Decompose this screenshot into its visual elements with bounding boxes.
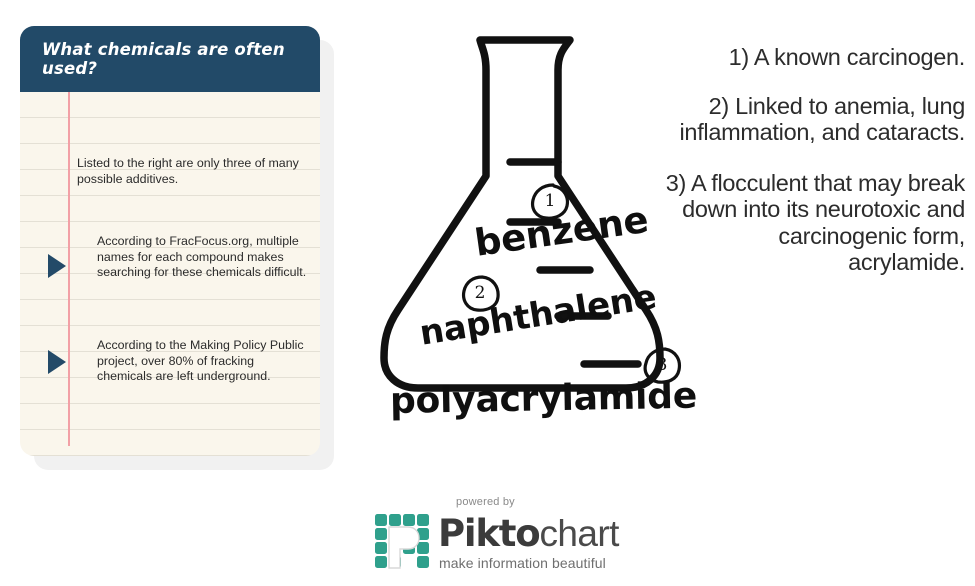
- paper-margin-line: [68, 92, 70, 446]
- piktochart-wordmark: Pikto chart: [438, 512, 619, 554]
- powered-by-label: powered by: [456, 496, 515, 508]
- effect-list-item: 2) Linked to anemia, lung inflammation, …: [660, 93, 965, 146]
- wordmark-chart: chart: [540, 513, 619, 555]
- chemical-label-polyacrylamide: polyacrylamide: [390, 376, 698, 422]
- health-effects-list: 1) A known carcinogen. 2) Linked to anem…: [660, 44, 965, 296]
- chemicals-note-card: What chemicals are often used? Listed to…: [20, 26, 320, 456]
- note-card-title: What chemicals are often used?: [42, 40, 320, 78]
- note-card-header: What chemicals are often used?: [20, 26, 320, 92]
- note-intro-text: Listed to the right are only three of ma…: [77, 156, 305, 187]
- triangle-bullet-icon: [48, 350, 66, 374]
- piktochart-tagline: make information beautiful: [439, 555, 606, 571]
- note-bullet-text: According to FracFocus.org, multiple nam…: [97, 234, 312, 281]
- effect-list-item: 1) A known carcinogen.: [660, 44, 965, 71]
- triangle-bullet-icon: [48, 254, 66, 278]
- piktochart-logo-icon: [374, 513, 432, 569]
- piktochart-attribution[interactable]: powered by Pikto chart make information …: [372, 496, 622, 576]
- effect-list-item: 3) A flocculent that may break down into…: [660, 170, 965, 276]
- callout-digit: 2: [475, 283, 486, 303]
- note-bullet-text: According to the Making Policy Public pr…: [97, 338, 312, 385]
- callout-digit: 1: [545, 191, 556, 211]
- callout-digit: 3: [657, 355, 668, 375]
- wordmark-pikto: Pikto: [438, 512, 540, 555]
